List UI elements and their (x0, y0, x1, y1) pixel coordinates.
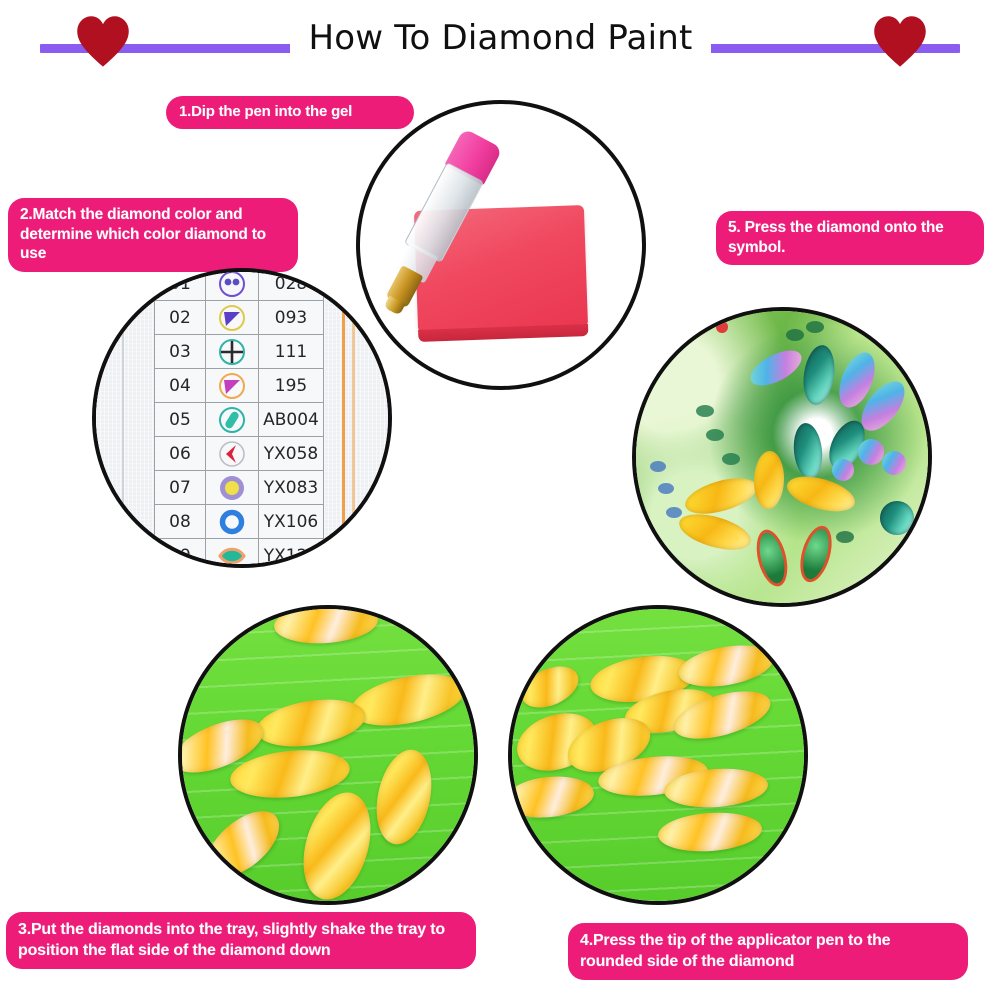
legend-row-code: YX058 (259, 437, 324, 471)
canvas-symbol-dot (836, 531, 854, 543)
legend-row: 08YX106 (155, 505, 324, 539)
legend-row: 01028 (155, 268, 324, 301)
legend-row-number: 03 (155, 335, 206, 369)
step-3-photo-circle (178, 605, 478, 905)
legend-row-number: 01 (155, 268, 206, 301)
green-leaf-symbol (751, 526, 792, 589)
diamond-gem (858, 439, 884, 465)
step-3-label: 3.Put the diamonds into the tray, slight… (6, 912, 476, 969)
legend-row-symbol-icon (206, 268, 259, 301)
diamond-gem (832, 459, 854, 481)
legend-row-symbol-icon (206, 403, 259, 437)
yellow-diamond (292, 785, 382, 905)
pen-barrel (508, 605, 552, 676)
canvas-symbol-dot (658, 483, 674, 494)
diamond-tray (512, 609, 804, 901)
page-title-text: How To Diamond Paint (290, 16, 710, 60)
yellow-diamond (273, 605, 380, 647)
canvas-symbol-dot (706, 429, 724, 441)
canvas-symbol-dot (806, 321, 824, 333)
yellow-diamond-gem (675, 507, 754, 556)
legend-row: 03111 (155, 335, 324, 369)
legend-row: 04195 (155, 369, 324, 403)
legend-row-symbol-icon (206, 301, 259, 335)
legend-row: 05AB004 (155, 403, 324, 437)
step-4-photo-circle (508, 605, 808, 905)
diamond-gem (791, 422, 825, 481)
yellow-diamond (515, 658, 584, 715)
yellow-diamond (657, 809, 763, 854)
step-5-photo-circle (632, 307, 932, 607)
legend-row-code: AB004 (259, 403, 324, 437)
legend-row-code: YX106 (259, 505, 324, 539)
yellow-diamond (346, 665, 469, 734)
legend-row-number: 06 (155, 437, 206, 471)
legend-row-code: YX083 (259, 471, 324, 505)
orange-margin-line-2 (352, 272, 355, 564)
step-1-photo-circle (356, 100, 646, 390)
legend-row-number: 07 (155, 471, 206, 505)
legend-row: 07YX083 (155, 471, 324, 505)
legend-row-code: 111 (259, 335, 324, 369)
mandala-canvas (636, 311, 928, 603)
diamond-gem (800, 343, 838, 407)
yellow-diamond (369, 745, 440, 850)
canvas-symbol-dot (650, 461, 666, 472)
step-2-label: 2.Match the diamond color and determine … (8, 198, 298, 272)
legend-row-code: 195 (259, 369, 324, 403)
diamond-gem (882, 451, 906, 475)
legend-row-symbol-icon (206, 437, 259, 471)
yellow-diamond (675, 639, 776, 693)
legend-row-symbol-icon (206, 335, 259, 369)
paper-margin-line (122, 272, 124, 564)
color-legend-table: 0102802093031110419505AB00406YX05807YX08… (154, 268, 324, 568)
orange-margin-line (342, 272, 345, 564)
legend-row-symbol-icon (206, 505, 259, 539)
pen-barrel (632, 307, 690, 404)
yellow-diamond (508, 772, 596, 821)
legend-row-symbol-icon (206, 369, 259, 403)
canvas-symbol-dot (722, 453, 740, 465)
diamond-tray (182, 609, 474, 901)
legend-row-code: YX125 (259, 539, 324, 569)
canvas-symbol-dot (716, 321, 728, 333)
legend-row-code: 093 (259, 301, 324, 335)
yellow-diamond-gem-on-pen (753, 450, 785, 509)
step-1-scene (360, 104, 642, 386)
diamond-gem (745, 343, 807, 392)
legend-row: 02093 (155, 301, 324, 335)
page-title: How To Diamond Paint (0, 16, 1001, 60)
legend-row-number: 02 (155, 301, 206, 335)
canvas-symbol-dot (786, 329, 804, 341)
legend-row: 06YX058 (155, 437, 324, 471)
green-leaf-symbol (795, 522, 838, 585)
legend-row-symbol-icon (206, 539, 259, 569)
yellow-diamond (195, 799, 290, 890)
diamond-gem (880, 501, 914, 535)
legend-row: 09YX125 (155, 539, 324, 569)
legend-row-number: 09 (155, 539, 206, 569)
legend-row-number: 08 (155, 505, 206, 539)
legend-row-symbol-icon (206, 471, 259, 505)
yellow-diamond (253, 693, 369, 754)
step-5-label: 5. Press the diamond onto the symbol. (716, 211, 984, 265)
step-4-label: 4.Press the tip of the applicator pen to… (568, 923, 968, 980)
legend-row-code: 028 (259, 268, 324, 301)
legend-chart-paper: 0102802093031110419505AB00406YX05807YX08… (96, 272, 388, 564)
page-header: How To Diamond Paint (0, 0, 1001, 92)
canvas-symbol-dot (666, 507, 682, 518)
step-2-photo-circle: 0102802093031110419505AB00406YX05807YX08… (92, 268, 392, 568)
legend-row-number: 05 (155, 403, 206, 437)
canvas-symbol-dot (696, 405, 714, 417)
legend-row-number: 04 (155, 369, 206, 403)
